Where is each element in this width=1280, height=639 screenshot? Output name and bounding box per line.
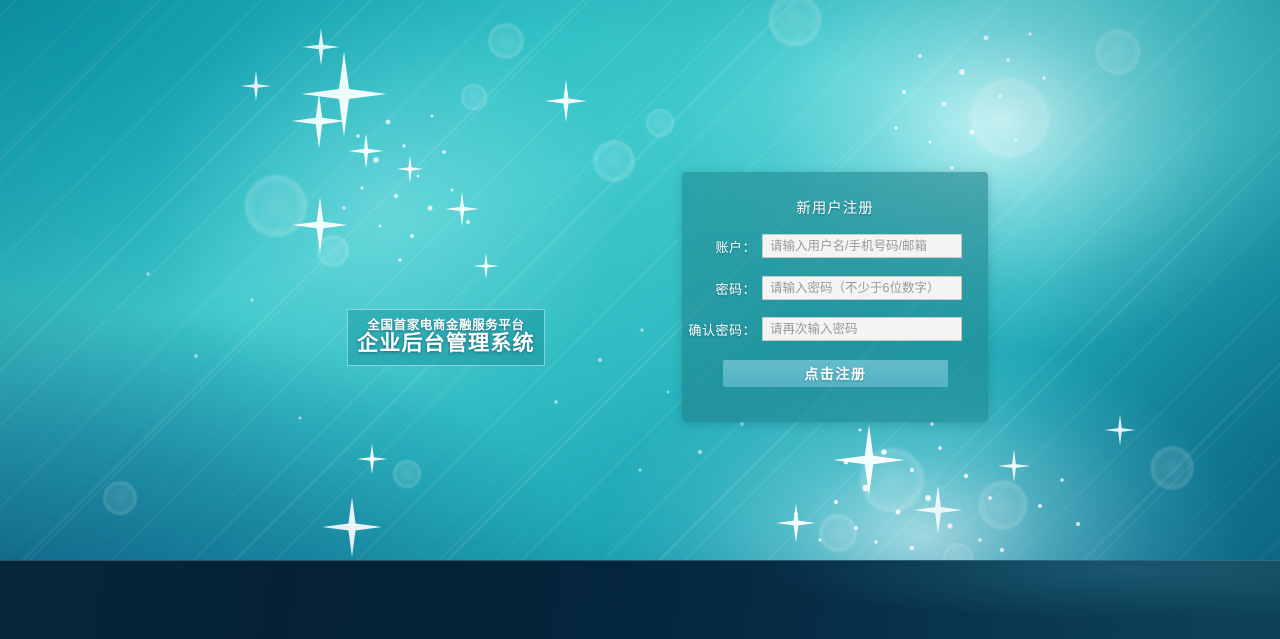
password-input[interactable] — [762, 276, 962, 300]
footer-strip-glow — [0, 561, 1280, 639]
footer-strip — [0, 560, 1280, 639]
account-input[interactable] — [762, 234, 962, 258]
confirm-password-input[interactable] — [762, 317, 962, 341]
background-vignette — [0, 0, 1280, 639]
form-row-password: 密码： — [682, 276, 988, 300]
brand-subtitle: 全国首家电商金融服务平台 — [367, 319, 524, 332]
confirm-password-label: 确认密码： — [682, 320, 762, 339]
brand-title-block: 全国首家电商金融服务平台 企业后台管理系统 — [347, 309, 545, 366]
account-label: 账户： — [682, 237, 762, 256]
login-page: 全国首家电商金融服务平台 企业后台管理系统 新用户注册 账户： 密码： 确认密码… — [0, 0, 1280, 639]
register-panel-heading: 新用户注册 — [682, 197, 988, 218]
brand-title: 企业后台管理系统 — [357, 332, 535, 356]
form-row-account: 账户： — [682, 234, 988, 258]
register-panel: 新用户注册 账户： 密码： 确认密码： 点击注册 — [682, 172, 988, 422]
password-label: 密码： — [682, 279, 762, 298]
form-row-confirm-password: 确认密码： — [682, 317, 988, 341]
register-submit-button[interactable]: 点击注册 — [723, 360, 948, 387]
